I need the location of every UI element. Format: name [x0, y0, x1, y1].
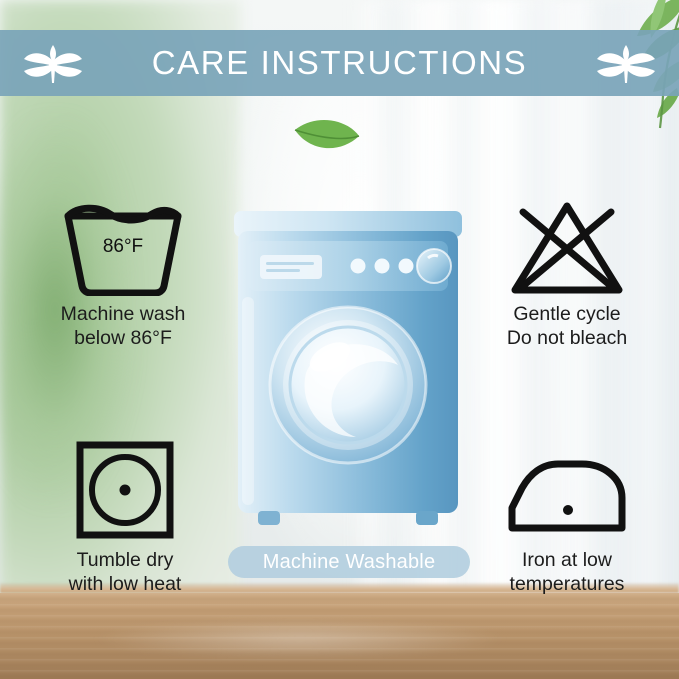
tumble-dry-low-icon [75, 440, 175, 540]
banner-title: CARE INSTRUCTIONS [152, 44, 528, 82]
care-icon-do-not-bleach: Gentle cycle Do not bleach [462, 196, 672, 350]
care-caption-tumble-dry: Tumble dry with low heat [20, 548, 230, 596]
iron-icon-wrap [462, 440, 672, 540]
single-leaf-icon [292, 118, 362, 164]
care-icon-iron: Iron at low temperatures [462, 440, 672, 596]
wash-temperature-label: 86°F [103, 236, 143, 258]
tumble-dry-icon-wrap [20, 440, 230, 540]
care-icon-machine-wash: 86°F Machine wash below 86°F [18, 196, 228, 350]
counter-highlight [90, 619, 510, 659]
fleur-de-lis-ornament-icon [595, 41, 657, 85]
care-caption-do-not-bleach: Gentle cycle Do not bleach [462, 302, 672, 350]
machine-washable-badge: Machine Washable [228, 546, 470, 578]
fleur-de-lis-ornament-icon [22, 41, 84, 85]
care-caption-machine-wash: Machine wash below 86°F [18, 302, 228, 350]
machine-washable-label: Machine Washable [263, 551, 436, 574]
care-caption-iron: Iron at low temperatures [462, 548, 672, 596]
care-icon-tumble-dry: Tumble dry with low heat [20, 440, 230, 596]
banner: CARE INSTRUCTIONS [0, 30, 679, 96]
do-not-bleach-icon-wrap [462, 196, 672, 296]
do-not-bleach-triangle-icon [509, 200, 625, 296]
care-instructions-card: CARE INSTRUCTIONS [0, 0, 679, 679]
iron-low-temperature-icon [502, 456, 632, 540]
washing-machine-illustration [228, 205, 468, 535]
